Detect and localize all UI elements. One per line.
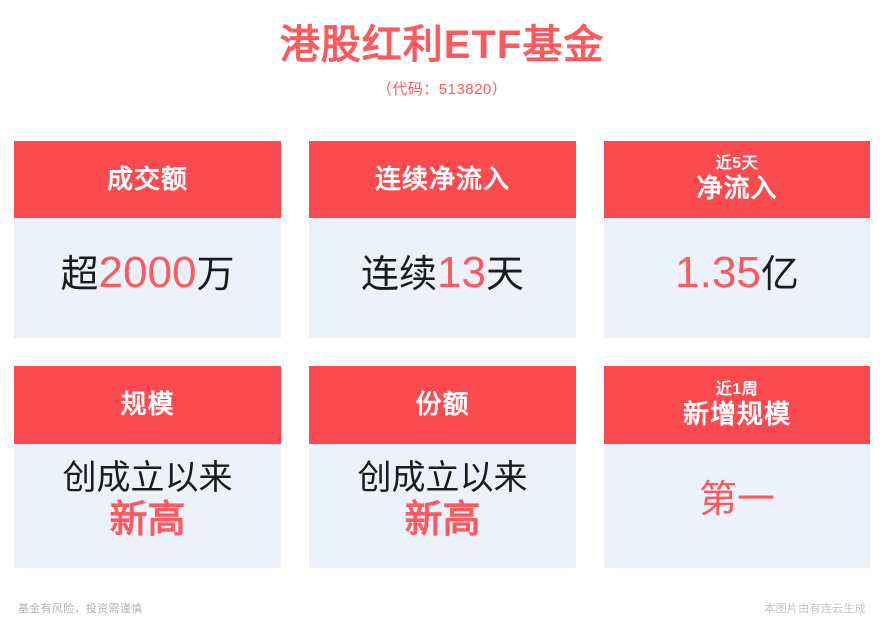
stat-card-consecutive-netinflow[interactable]: 连续净流入 连续13天 [309, 141, 576, 338]
stat-value-prefix: 连续 [361, 254, 437, 296]
stat-value-line-2: 新高 [404, 500, 480, 542]
stat-card-body: 创成立以来 新高 [14, 444, 281, 568]
stat-value-number: 1.35 [675, 248, 761, 297]
stat-value-line-1: 创成立以来 [358, 460, 528, 497]
stat-card-turnover[interactable]: 成交额 超2000万 [14, 141, 281, 338]
stat-card-fund-size[interactable]: 规模 创成立以来 新高 [14, 366, 281, 568]
image-credit: 本图片由有连云生成 [764, 600, 866, 616]
stat-card-header: 份额 [309, 366, 576, 444]
stat-card-title: 规模 [120, 391, 174, 418]
stat-value-number: 13 [437, 248, 486, 297]
fund-code-subtitle: （代码：513820） [0, 78, 884, 99]
stat-card-body: 第一 [604, 444, 870, 568]
stat-card-title: 成交额 [107, 166, 188, 193]
stat-card-fund-shares[interactable]: 份额 创成立以来 新高 [309, 366, 576, 568]
stat-card-header: 连续净流入 [309, 141, 576, 218]
stat-card-title: 新增规模 [683, 401, 791, 428]
page-footer: 基金有风险，投资需谨慎 本图片由有连云生成 [0, 600, 884, 616]
page-header: 港股红利ETF基金 （代码：513820） [0, 0, 884, 99]
stat-card-grid: 成交额 超2000万 连续净流入 连续13天 近5天 净流入 1.35亿 规模 … [14, 141, 870, 568]
stat-value-line-1: 创成立以来 [63, 460, 233, 497]
stat-value-inline: 1.35亿 [675, 249, 799, 297]
stat-card-weekly-size-growth[interactable]: 近1周 新增规模 第一 [604, 366, 870, 568]
stat-card-header: 近1周 新增规模 [604, 366, 870, 444]
page-title: 港股红利ETF基金 [0, 22, 884, 68]
stat-card-title: 份额 [415, 391, 469, 418]
stat-card-5day-netinflow[interactable]: 近5天 净流入 1.35亿 [604, 141, 870, 338]
stat-value-suffix: 天 [486, 254, 524, 296]
stat-value-inline: 超2000万 [61, 249, 235, 297]
stat-card-eyebrow: 近1周 [716, 382, 758, 399]
stat-value-suffix: 亿 [761, 254, 799, 296]
stat-card-title: 连续净流入 [375, 166, 510, 193]
stat-card-eyebrow: 近5天 [716, 156, 758, 173]
stat-card-header: 规模 [14, 366, 281, 444]
stat-value-suffix: 万 [196, 254, 234, 296]
stat-value-inline: 连续13天 [361, 249, 524, 297]
stat-card-header: 近5天 净流入 [604, 141, 870, 218]
stat-card-title: 净流入 [696, 175, 777, 202]
stat-value-prefix: 超 [61, 254, 99, 296]
stat-card-body: 连续13天 [309, 218, 576, 338]
stat-value-number: 2000 [99, 248, 197, 297]
stat-value-rank: 第一 [699, 480, 775, 522]
risk-disclaimer: 基金有风险，投资需谨慎 [18, 600, 142, 616]
stat-card-body: 1.35亿 [604, 218, 870, 338]
stat-card-body: 创成立以来 新高 [309, 444, 576, 568]
stat-value-line-2: 新高 [109, 500, 185, 542]
stat-card-header: 成交额 [14, 141, 281, 218]
stat-card-body: 超2000万 [14, 218, 281, 338]
